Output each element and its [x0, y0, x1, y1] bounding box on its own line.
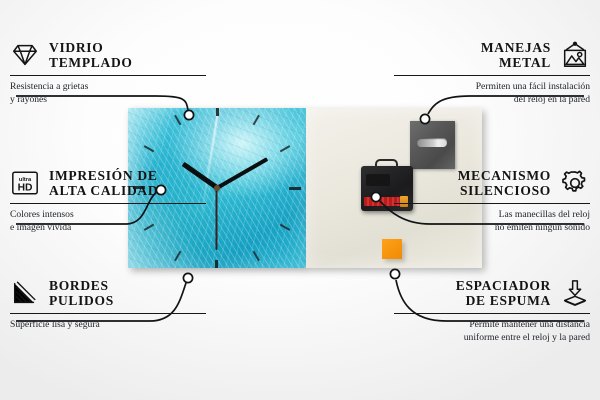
clock-tick [231, 187, 301, 189]
infographic-stage: VIDRIO TEMPLADO Resistencia a grietas y … [0, 0, 600, 400]
callout-description: Las manecillas del reloj no emiten ningú… [394, 209, 590, 235]
mechanism-bracket [375, 159, 398, 168]
picture-frame-icon [560, 40, 590, 70]
callout-header: MANEJAS METAL [394, 40, 590, 71]
diamond-icon [10, 40, 40, 70]
polished-edges-icon [10, 278, 40, 308]
foam-spacer-pad [382, 239, 402, 259]
callout-rule [394, 313, 590, 315]
callout-header: BORDES PULIDOS [10, 278, 206, 309]
callout-rule [10, 313, 206, 315]
mechanism-vent [366, 174, 390, 186]
callout-manejas-metal[interactable]: MANEJAS METAL Permiten una fácil instala… [394, 40, 590, 107]
callout-header: ESPACIADOR DE ESPUMA [394, 278, 590, 309]
callout-header: VIDRIO TEMPLADO [10, 40, 206, 71]
callout-description: Resistencia a grietas y rayones [10, 81, 206, 107]
callout-mecanismo-silencioso[interactable]: MECANISMO SILENCIOSO Las manecillas del … [394, 168, 590, 235]
callout-header: MECANISMO SILENCIOSO [394, 168, 590, 199]
callout-title: BORDES PULIDOS [49, 278, 114, 309]
ultra-hd-icon: ultra HD [10, 168, 40, 198]
callout-title: ESPACIADOR DE ESPUMA [456, 278, 551, 309]
callout-rule [394, 203, 590, 205]
callout-description: Permite mantener una distancia uniforme … [394, 319, 590, 345]
callout-header: ultra HD IMPRESIÓN DE ALTA CALIDAD [10, 168, 206, 199]
callout-impresion-alta-calidad[interactable]: ultra HD IMPRESIÓN DE ALTA CALIDAD Color… [10, 168, 206, 235]
svg-text:HD: HD [18, 183, 33, 194]
callout-description: Permiten una fácil instalación del reloj… [394, 81, 590, 107]
hanger-slot [417, 138, 447, 147]
callout-bordes-pulidos[interactable]: BORDES PULIDOS Superficie lisa y segura [10, 278, 206, 332]
callout-description: Colores intensos e imagen vívida [10, 209, 206, 235]
gear-icon [560, 168, 590, 198]
callout-title: VIDRIO TEMPLADO [49, 40, 133, 71]
callout-espaciador-de-espuma[interactable]: ESPACIADOR DE ESPUMA Permite mantener un… [394, 278, 590, 345]
callout-title: IMPRESIÓN DE ALTA CALIDAD [49, 168, 158, 199]
callout-rule [394, 75, 590, 77]
callout-vidrio-templado[interactable]: VIDRIO TEMPLADO Resistencia a grietas y … [10, 40, 206, 107]
foam-spacer-icon [560, 278, 590, 308]
callout-rule [10, 203, 206, 205]
callout-rule [10, 75, 206, 77]
clock-tick [216, 108, 218, 174]
clock-center-cap [214, 185, 220, 191]
callout-title: MANEJAS METAL [481, 40, 551, 71]
metal-hanger-plate [410, 121, 455, 169]
callout-title: MECANISMO SILENCIOSO [458, 168, 551, 199]
callout-description: Superficie lisa y segura [10, 319, 206, 332]
